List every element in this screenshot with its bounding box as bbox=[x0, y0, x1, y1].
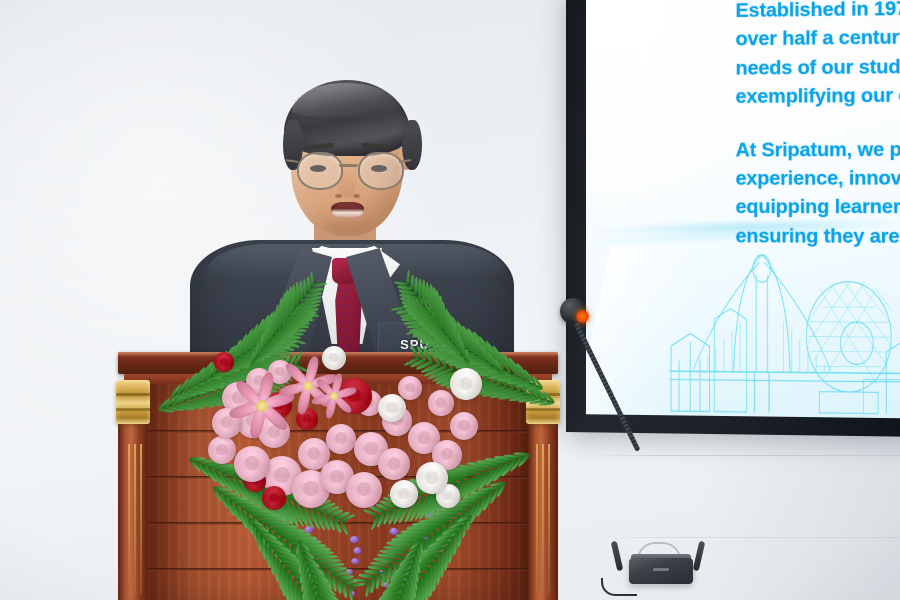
spray-floret bbox=[353, 547, 362, 554]
router-antenna-left bbox=[611, 541, 624, 572]
slide-line: exemplifying our c bbox=[736, 80, 900, 112]
pink-rose bbox=[428, 390, 454, 416]
router-body bbox=[629, 558, 693, 584]
conference-photo-scene: Established in 197 over half a century n… bbox=[0, 0, 900, 600]
capital-band bbox=[116, 408, 150, 411]
rose-center bbox=[330, 470, 344, 484]
frond-leaflet bbox=[428, 284, 433, 314]
microphone-gooseneck bbox=[570, 315, 640, 452]
pink-rose bbox=[378, 448, 410, 480]
pink-lily bbox=[310, 372, 358, 420]
white-rose bbox=[416, 462, 448, 494]
floral-arrangement bbox=[150, 320, 570, 600]
rose-center bbox=[216, 444, 227, 455]
slide-line: equipping learners bbox=[736, 193, 900, 222]
speaker-nostril-right bbox=[353, 194, 360, 198]
red-rose bbox=[214, 352, 234, 372]
router-led-indicator bbox=[653, 568, 669, 571]
wall-panel-seam bbox=[585, 455, 900, 456]
rose-center bbox=[460, 377, 473, 390]
column-flute bbox=[134, 444, 136, 594]
rose-center bbox=[458, 420, 469, 431]
pink-rose bbox=[450, 412, 478, 440]
slide-cityscape-illustration bbox=[670, 245, 900, 416]
rose-center bbox=[426, 471, 439, 484]
pink-rose bbox=[208, 436, 236, 464]
slide-paragraph-gap bbox=[736, 109, 900, 136]
eyeglasses-bridge bbox=[339, 164, 358, 167]
white-rose bbox=[450, 368, 482, 400]
slide-line: experience, innova bbox=[736, 163, 900, 193]
rose-center bbox=[418, 431, 431, 444]
microphone-status-light-icon bbox=[576, 310, 589, 323]
rose-center bbox=[303, 481, 318, 496]
rose-center bbox=[220, 358, 228, 366]
speaker-mouth bbox=[331, 202, 364, 219]
spray-floret bbox=[350, 536, 359, 543]
rose-center bbox=[443, 491, 453, 501]
slide-line: needs of our stude bbox=[736, 50, 900, 83]
wifi-router[interactable] bbox=[607, 538, 715, 596]
rose-center bbox=[386, 402, 397, 413]
slide-line: At Sripatum, we p bbox=[736, 134, 900, 165]
speaker-nostril-left bbox=[335, 194, 342, 198]
pink-rose bbox=[234, 446, 270, 482]
speaker-hair-sideburn-right bbox=[402, 120, 422, 170]
slide-line: over half a century bbox=[736, 21, 900, 54]
rose-center bbox=[364, 442, 378, 456]
speaker-hair-gray-highlight bbox=[292, 83, 400, 117]
column-flute bbox=[140, 444, 142, 594]
capital-band bbox=[116, 393, 150, 396]
spray-floret bbox=[351, 558, 359, 564]
pink-rose bbox=[398, 376, 422, 400]
slide-text-block: Established in 197 over half a century n… bbox=[736, 0, 900, 252]
router-power-cable bbox=[601, 578, 637, 596]
eyeglasses-lens-right bbox=[358, 152, 404, 190]
rose-center bbox=[269, 493, 279, 503]
rose-center bbox=[308, 447, 321, 460]
lily-center bbox=[256, 400, 268, 412]
slide-line: ensuring they are bbox=[736, 222, 900, 252]
lily-center bbox=[330, 392, 338, 400]
pink-rose bbox=[326, 424, 356, 454]
rose-center bbox=[398, 488, 409, 499]
white-rose bbox=[390, 480, 418, 508]
eyeglasses-lens-left bbox=[297, 152, 343, 190]
column-flute bbox=[128, 444, 130, 594]
router-antenna-right bbox=[693, 541, 706, 572]
pink-rose bbox=[346, 472, 382, 508]
white-rose bbox=[378, 394, 406, 422]
slide-line: Established in 197 bbox=[736, 0, 900, 25]
rose-center bbox=[405, 383, 415, 393]
podium-gold-capital-left bbox=[116, 380, 150, 424]
speaker-chin-shadow bbox=[322, 222, 374, 234]
rose-center bbox=[436, 397, 446, 407]
red-rose bbox=[262, 486, 286, 510]
rose-center bbox=[388, 457, 401, 470]
